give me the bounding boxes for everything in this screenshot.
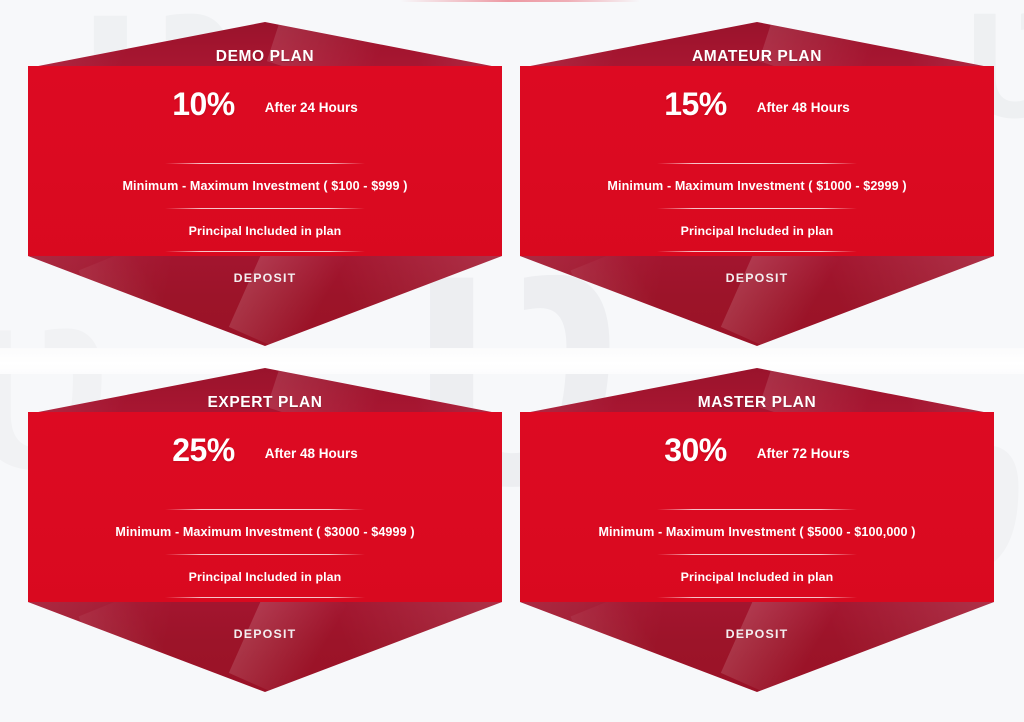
divider-2: [165, 208, 365, 209]
plan-principal: Principal Included in plan: [520, 224, 994, 238]
plan-investment-range: Minimum - Maximum Investment ( $5000 - $…: [520, 525, 994, 539]
divider-3: [657, 597, 857, 598]
divider-3: [657, 251, 857, 252]
plan-figure-row: 10% After 24 Hours: [28, 86, 502, 123]
deposit-button[interactable]: DEPOSIT: [28, 612, 502, 656]
divider-1: [165, 163, 365, 164]
pricing-plans-grid: DEMO PLAN 10% After 24 Hours Minimum - M…: [0, 0, 1024, 717]
plan-principal: Principal Included in plan: [520, 570, 994, 584]
card-body: 30% After 72 Hours Minimum - Maximum Inv…: [520, 412, 994, 602]
plan-percent: 15%: [664, 86, 727, 123]
card-body: 15% After 48 Hours Minimum - Maximum Inv…: [520, 66, 994, 256]
plan-investment-range: Minimum - Maximum Investment ( $1000 - $…: [520, 179, 994, 193]
divider-1: [165, 509, 365, 510]
plan-principal: Principal Included in plan: [28, 224, 502, 238]
plan-duration: After 48 Hours: [757, 100, 850, 115]
plan-duration: After 72 Hours: [757, 446, 850, 461]
divider-3: [165, 251, 365, 252]
plan-card-expert[interactable]: EXPERT PLAN 25% After 48 Hours Minimum -…: [28, 368, 502, 692]
divider-1: [657, 509, 857, 510]
plan-card-amateur[interactable]: AMATEUR PLAN 15% After 48 Hours Minimum …: [520, 22, 994, 346]
plan-duration: After 24 Hours: [265, 100, 358, 115]
card-body: 25% After 48 Hours Minimum - Maximum Inv…: [28, 412, 502, 602]
deposit-button[interactable]: DEPOSIT: [520, 256, 994, 300]
plan-card-demo[interactable]: DEMO PLAN 10% After 24 Hours Minimum - M…: [28, 22, 502, 346]
deposit-button[interactable]: DEPOSIT: [520, 612, 994, 656]
divider-2: [657, 208, 857, 209]
plan-duration: After 48 Hours: [265, 446, 358, 461]
card-body: 10% After 24 Hours Minimum - Maximum Inv…: [28, 66, 502, 256]
plan-investment-range: Minimum - Maximum Investment ( $3000 - $…: [28, 525, 502, 539]
plan-principal: Principal Included in plan: [28, 570, 502, 584]
plan-figure-row: 25% After 48 Hours: [28, 432, 502, 469]
divider-2: [657, 554, 857, 555]
plan-card-master[interactable]: MASTER PLAN 30% After 72 Hours Minimum -…: [520, 368, 994, 692]
plan-title: DEMO PLAN: [28, 22, 502, 68]
plan-percent: 30%: [664, 432, 727, 469]
divider-2: [165, 554, 365, 555]
plan-title: AMATEUR PLAN: [520, 22, 994, 68]
deposit-button[interactable]: DEPOSIT: [28, 256, 502, 300]
plan-investment-range: Minimum - Maximum Investment ( $100 - $9…: [28, 179, 502, 193]
plan-title: MASTER PLAN: [520, 368, 994, 414]
plan-figure-row: 30% After 72 Hours: [520, 432, 994, 469]
plan-figure-row: 15% After 48 Hours: [520, 86, 994, 123]
plan-percent: 25%: [172, 432, 235, 469]
divider-3: [165, 597, 365, 598]
plan-title: EXPERT PLAN: [28, 368, 502, 414]
divider-1: [657, 163, 857, 164]
plan-percent: 10%: [172, 86, 235, 123]
